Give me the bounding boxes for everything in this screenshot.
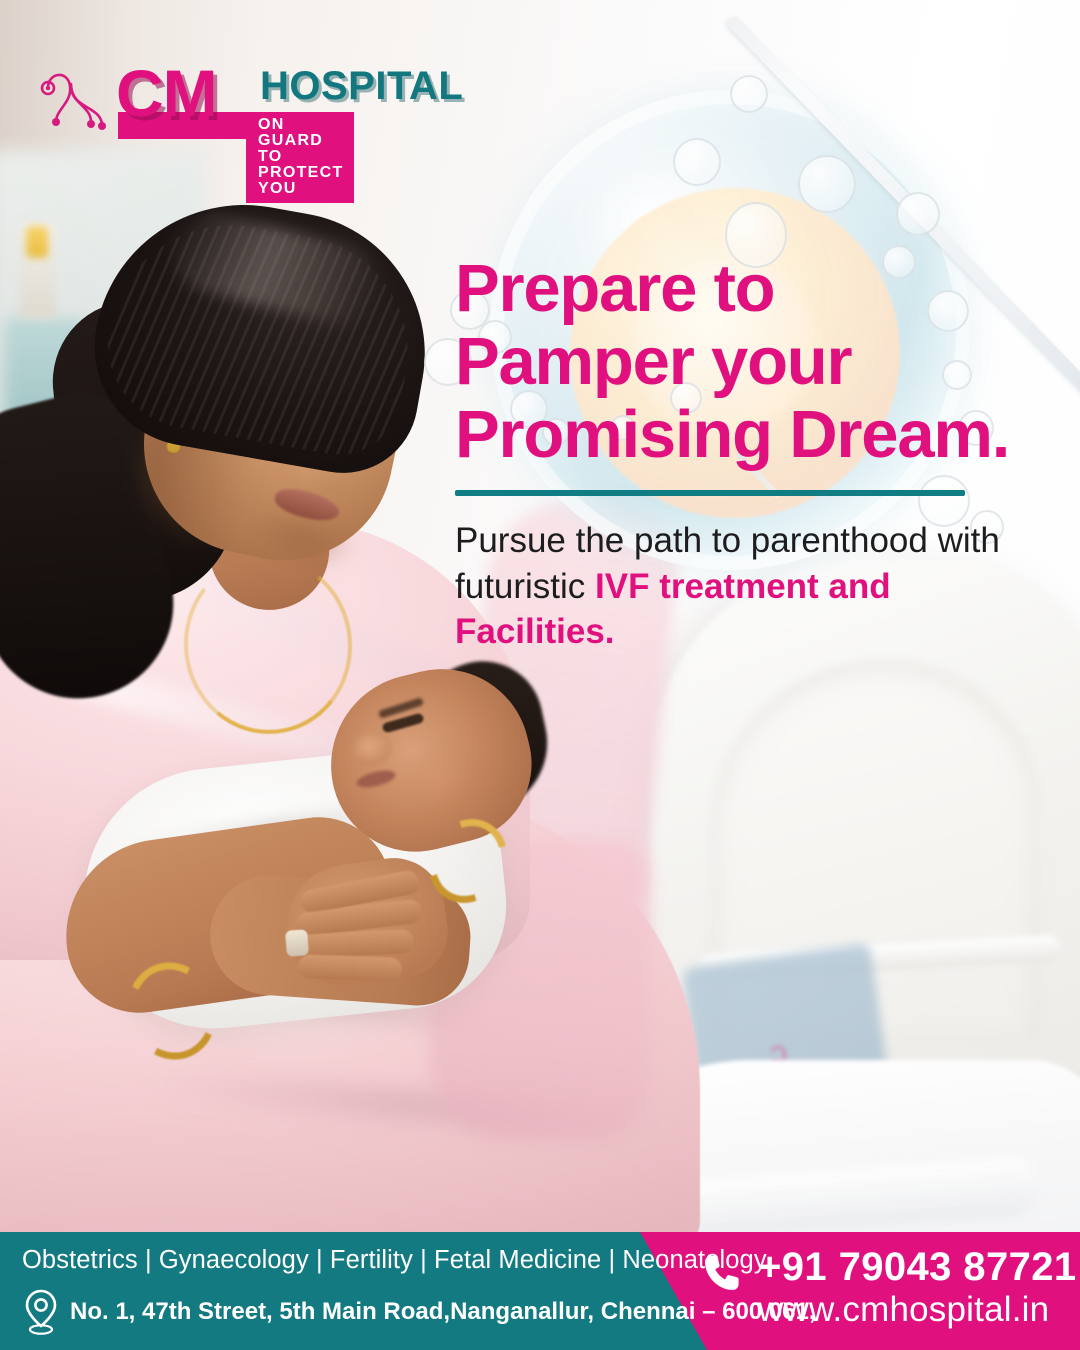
contact-lines: +91 79043 87721 www.cmhospital.in	[758, 1245, 1077, 1330]
headline-line-1: Prepare to	[455, 251, 774, 326]
address-row: No. 1, 47th Street, 5th Main Road,Nangan…	[22, 1288, 816, 1336]
footer-bar: Obstetrics | Gynaecology | Fertility | F…	[0, 1232, 1080, 1350]
phone-number[interactable]: +91 79043 87721	[758, 1245, 1077, 1290]
stethoscope-icon	[38, 58, 118, 138]
headline-line-3: Promising Dream.	[455, 397, 1009, 472]
logo-tagline: ON GUARD TO PROTECT YOU	[246, 112, 354, 203]
website-url[interactable]: www.cmhospital.in	[758, 1290, 1077, 1331]
contact-block[interactable]: +91 79043 87721 www.cmhospital.in	[700, 1245, 1077, 1330]
services-list: Obstetrics | Gynaecology | Fertility | F…	[22, 1246, 767, 1275]
headline-line-2: Pamper your	[455, 324, 851, 399]
map-pin-icon	[22, 1288, 60, 1336]
poster-canvas: ɔ	[0, 0, 1080, 1350]
divider-rule	[455, 490, 965, 496]
hero-copy: Prepare to Pamper your Promising Dream. …	[455, 252, 1055, 690]
page-title: Prepare to Pamper your Promising Dream.	[455, 252, 1055, 471]
hero-subcopy: Pursue the path to parenthood with futur…	[455, 518, 1045, 655]
phone-icon	[700, 1251, 744, 1295]
logo-wordmark: HOSPITAL	[260, 66, 463, 106]
logo-initials: CM	[116, 60, 217, 126]
woman-finger	[298, 954, 403, 982]
finger-ring	[285, 929, 309, 956]
baby-cheek	[404, 752, 474, 812]
